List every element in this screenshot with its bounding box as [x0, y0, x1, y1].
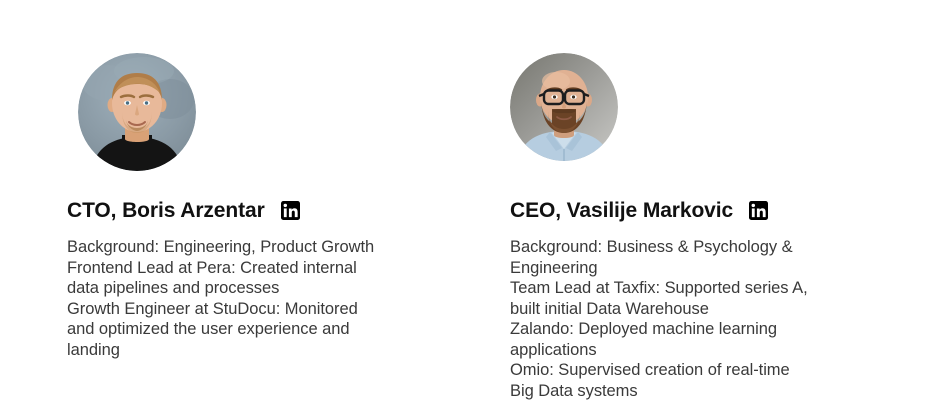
bio-line: Frontend Lead at Pera: Created internal: [67, 258, 407, 279]
bio-line: Growth Engineer at StuDocu: Monitored: [67, 299, 407, 320]
bio-line: and optimized the user experience and: [67, 319, 407, 340]
bio-line: landing: [67, 340, 407, 361]
person-bio-ceo: Background: Business & Psychology & Engi…: [510, 237, 855, 401]
bio-line: Big Data systems: [510, 381, 855, 402]
bio-line: applications: [510, 340, 855, 361]
bio-line: Background: Engineering, Product Growth: [67, 237, 407, 258]
bio-line: Omio: Supervised creation of real-time: [510, 360, 855, 381]
avatar-vasilije-markovic: [510, 53, 618, 161]
bio-line: data pipelines and processes: [67, 278, 407, 299]
bio-line: Engineering: [510, 258, 855, 279]
profile-card-ceo: CEO, Vasilije Markovic Background: Busin…: [510, 53, 870, 401]
bio-line: built initial Data Warehouse: [510, 299, 855, 320]
bio-line: Background: Business & Psychology &: [510, 237, 855, 258]
person-bio-cto: Background: Engineering, Product Growth …: [67, 237, 407, 360]
bio-line: Team Lead at Taxfix: Supported series A,: [510, 278, 855, 299]
person-name: CTO, Boris Arzentar: [67, 200, 265, 221]
linkedin-icon[interactable]: [749, 201, 768, 220]
avatar-boris-arzentar: [78, 53, 196, 171]
person-name: CEO, Vasilije Markovic: [510, 200, 733, 221]
person-heading-ceo: CEO, Vasilije Markovic: [510, 200, 870, 221]
bio-line: Zalando: Deployed machine learning: [510, 319, 855, 340]
linkedin-icon[interactable]: [281, 201, 300, 220]
profile-card-cto: CTO, Boris Arzentar Background: Engineer…: [67, 53, 467, 360]
team-profiles-section: CTO, Boris Arzentar Background: Engineer…: [0, 0, 948, 412]
person-heading-cto: CTO, Boris Arzentar: [67, 200, 467, 221]
